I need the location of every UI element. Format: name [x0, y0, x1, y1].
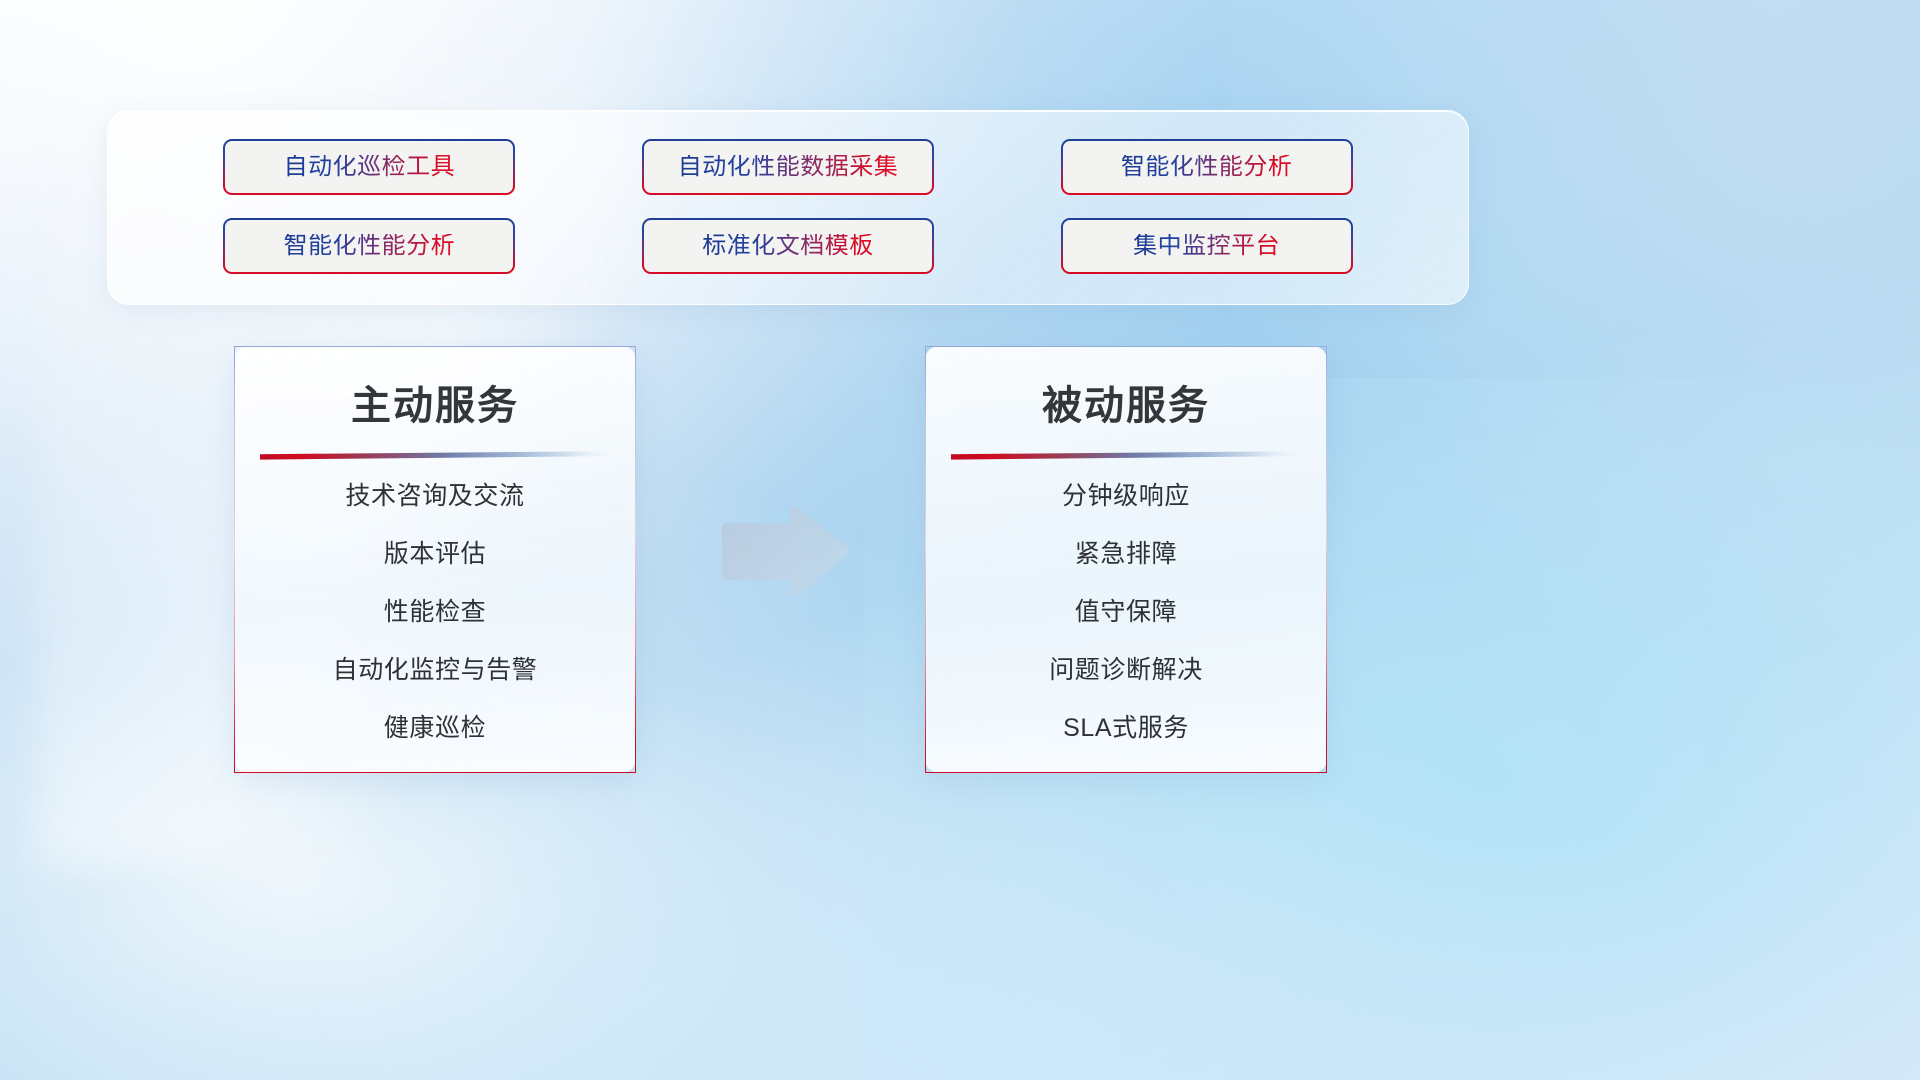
capability-tag-label: 集中监控平台	[1133, 234, 1280, 258]
service-list-item: 性能检查	[384, 600, 486, 625]
service-card-title: 被动服务	[1042, 373, 1210, 431]
service-item-list: 分钟级响应 紧急排障 值守保障 问题诊断解决 SLA式服务	[926, 484, 1326, 741]
service-list-item: 问题诊断解决	[1049, 658, 1203, 683]
service-list-item: 技术咨询及交流	[345, 484, 524, 509]
capability-tag[interactable]: 自动化巡检工具	[223, 139, 515, 195]
service-list-item: 值守保障	[1075, 600, 1177, 625]
capability-tag-label: 智能化性能分析	[1121, 155, 1293, 179]
capability-tag[interactable]: 智能化性能分析	[1061, 139, 1353, 195]
capability-tag[interactable]: 智能化性能分析	[223, 218, 515, 274]
capability-tags-panel: 自动化巡检工具 自动化性能数据采集 智能化性能分析 智能化性能分析 标准化文档模…	[107, 110, 1469, 305]
service-card-title: 主动服务	[351, 373, 519, 431]
service-list-item: SLA式服务	[1063, 716, 1189, 741]
capability-tag[interactable]: 集中监控平台	[1061, 218, 1353, 274]
capability-tag[interactable]: 自动化性能数据采集	[642, 139, 934, 195]
capability-tag-label: 智能化性能分析	[284, 234, 456, 258]
capability-tag[interactable]: 标准化文档模板	[642, 218, 934, 274]
arrow-right-icon	[716, 503, 852, 603]
capability-tag-label: 标准化文档模板	[702, 234, 874, 258]
capability-tag-grid: 自动化巡检工具 自动化性能数据采集 智能化性能分析 智能化性能分析 标准化文档模…	[108, 111, 1468, 304]
service-list-item: 健康巡检	[384, 716, 486, 741]
service-list-item: 分钟级响应	[1062, 484, 1190, 509]
service-list-item: 自动化监控与告警	[333, 658, 538, 683]
title-divider	[951, 451, 1301, 460]
capability-tag-label: 自动化性能数据采集	[678, 155, 899, 179]
service-card-proactive: 主动服务 技术咨询及交流 版本评估	[234, 346, 636, 773]
title-divider	[260, 451, 610, 460]
service-card-reactive: 被动服务 分钟级响应 紧急排障	[925, 346, 1327, 773]
service-list-item: 紧急排障	[1075, 542, 1177, 567]
capability-tag-label: 自动化巡检工具	[284, 155, 456, 179]
service-item-list: 技术咨询及交流 版本评估 性能检查 自动化监控与告警 健康巡检	[235, 484, 635, 741]
service-list-item: 版本评估	[384, 542, 486, 567]
